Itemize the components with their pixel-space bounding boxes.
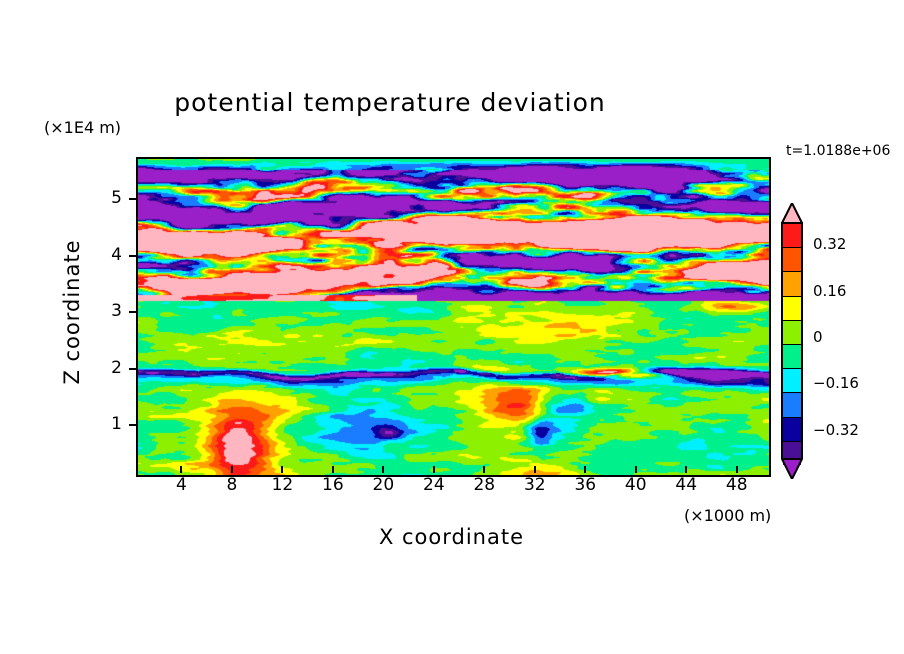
x-tick-label: 48 <box>717 475 757 495</box>
colorbar-band <box>783 272 801 296</box>
y-tick-label: 5 <box>96 188 122 208</box>
y-tick-label: 1 <box>96 414 122 434</box>
y-axis-label: Z coordinate <box>60 222 84 402</box>
x-tick-label: 36 <box>565 475 605 495</box>
figure-canvas: potential temperature deviation (×1E4 m)… <box>0 0 904 654</box>
colorbar-band <box>783 418 801 442</box>
x-tick-label: 16 <box>313 475 353 495</box>
x-tick-label: 24 <box>414 475 454 495</box>
contour-plot-area <box>136 157 771 477</box>
x-tickmark <box>281 466 283 473</box>
x-tickmark <box>332 466 334 473</box>
y-tickmark <box>129 198 136 200</box>
x-tick-label: 44 <box>666 475 706 495</box>
time-annotation: t=1.0188e+06 <box>786 143 890 159</box>
colorbar-band <box>783 345 801 369</box>
colorbar-band <box>783 297 801 321</box>
y-tickmark <box>129 424 136 426</box>
x-tickmark <box>685 466 687 473</box>
x-tickmark <box>534 466 536 473</box>
x-axis-unit-label: (×1000 m) <box>684 506 771 525</box>
x-tickmark <box>635 466 637 473</box>
x-tickmark <box>382 466 384 473</box>
x-tick-label: 28 <box>464 475 504 495</box>
x-tickmark <box>584 466 586 473</box>
x-tickmark <box>483 466 485 473</box>
x-tick-label: 12 <box>262 475 302 495</box>
colorbar-band <box>783 393 801 417</box>
colorbar-tick-label: −0.16 <box>813 374 859 392</box>
x-tickmark <box>433 466 435 473</box>
y-tickmark <box>129 368 136 370</box>
colorbar-band <box>783 321 801 345</box>
colorbar-extend-top <box>781 203 803 224</box>
colorbar-tick-label: 0 <box>813 328 823 346</box>
y-tick-label: 2 <box>96 358 122 378</box>
colorbar-extend-bottom <box>781 458 803 479</box>
x-tick-label: 20 <box>363 475 403 495</box>
colorbar-tick-label: 0.16 <box>813 282 846 300</box>
colorbar-band <box>783 369 801 393</box>
y-tickmark <box>129 311 136 313</box>
x-tickmark <box>180 466 182 473</box>
contour-field <box>138 159 769 475</box>
y-tick-label: 3 <box>96 301 122 321</box>
colorbar-band <box>783 224 801 248</box>
colorbar-tick-label: −0.32 <box>813 421 859 439</box>
colorbar-bands <box>781 222 803 458</box>
figure-title: potential temperature deviation <box>0 88 780 117</box>
x-tick-label: 8 <box>212 475 252 495</box>
colorbar-band <box>783 248 801 272</box>
x-tickmark <box>736 466 738 473</box>
x-tick-label: 40 <box>616 475 656 495</box>
y-tick-label: 4 <box>96 245 122 265</box>
colorbar: 0.320.160−0.16−0.32 <box>781 203 803 475</box>
colorbar-tick-label: 0.32 <box>813 235 846 253</box>
x-tick-label: 4 <box>161 475 201 495</box>
x-axis-label: X coordinate <box>136 525 767 549</box>
y-tickmark <box>129 255 136 257</box>
x-tick-label: 32 <box>515 475 555 495</box>
y-axis-unit-label: (×1E4 m) <box>44 118 121 137</box>
x-tickmark <box>231 466 233 473</box>
